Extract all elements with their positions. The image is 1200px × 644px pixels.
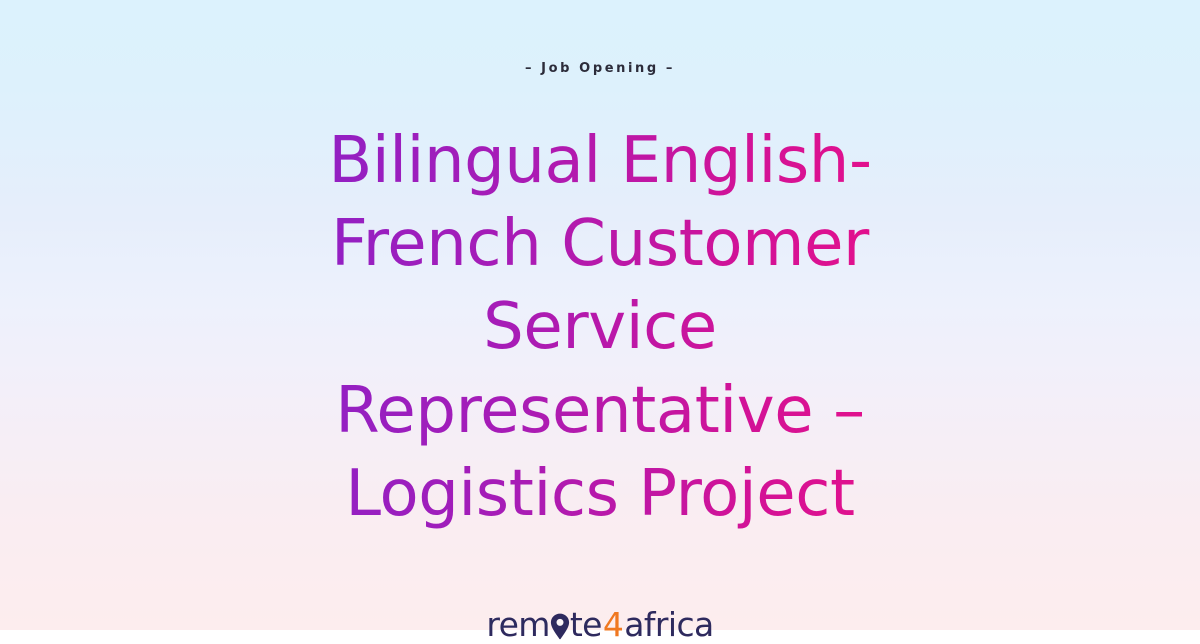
logo-text-start: rem <box>486 608 550 641</box>
title-container: Bilingual English-French Customer Servic… <box>250 120 950 536</box>
brand-logo[interactable]: rem te4africa <box>486 608 713 641</box>
logo-accent-four: 4 <box>602 608 624 641</box>
logo-text-end: africa <box>624 608 713 641</box>
logo-text-middle: te <box>570 608 602 641</box>
page-title: Bilingual English-French Customer Servic… <box>250 120 950 536</box>
location-pin-icon <box>550 613 570 640</box>
job-opening-share-card: – Job Opening – Bilingual English-French… <box>0 0 1200 630</box>
eyebrow-label: – Job Opening – <box>525 62 675 75</box>
